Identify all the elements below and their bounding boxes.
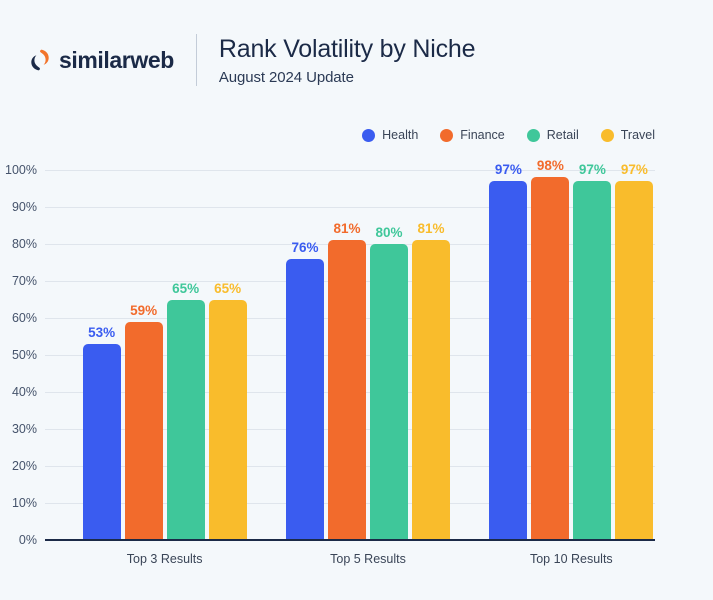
bar-rect bbox=[615, 181, 653, 540]
brand-logo: similarweb bbox=[28, 47, 196, 74]
brand-logo-text: similarweb bbox=[59, 47, 174, 74]
bar-rect bbox=[209, 300, 247, 541]
bar-travel-1[interactable]: 81% bbox=[412, 170, 450, 540]
bar-rect bbox=[489, 181, 527, 540]
bar-value-label: 65% bbox=[214, 281, 241, 296]
bar-value-label: 53% bbox=[88, 325, 115, 340]
title-block: Rank Volatility by Niche August 2024 Upd… bbox=[219, 34, 475, 86]
bar-retail-1[interactable]: 80% bbox=[370, 170, 408, 540]
page-subtitle: August 2024 Update bbox=[219, 69, 475, 86]
x-axis-tick-label: Top 10 Results bbox=[530, 552, 613, 566]
bar-value-label: 65% bbox=[172, 281, 199, 296]
y-axis-tick-label: 10% bbox=[12, 496, 37, 510]
bar-retail-0[interactable]: 65% bbox=[167, 170, 205, 540]
bar-rect bbox=[370, 244, 408, 540]
bar-group: 97%98%97%97% bbox=[489, 170, 653, 540]
y-axis-tick-label: 50% bbox=[12, 348, 37, 362]
bar-value-label: 80% bbox=[375, 225, 402, 240]
chart-legend: HealthFinanceRetailTravel bbox=[362, 128, 655, 142]
bar-rect bbox=[573, 181, 611, 540]
bar-finance-2[interactable]: 98% bbox=[531, 170, 569, 540]
bar-rect bbox=[412, 240, 450, 540]
legend-label: Retail bbox=[547, 128, 579, 142]
y-axis-tick-label: 80% bbox=[12, 237, 37, 251]
legend-swatch-icon bbox=[601, 129, 614, 142]
page-title: Rank Volatility by Niche bbox=[219, 34, 475, 64]
y-axis-tick-label: 0% bbox=[19, 533, 37, 547]
bar-value-label: 97% bbox=[579, 162, 606, 177]
bar-value-label: 97% bbox=[495, 162, 522, 177]
bar-value-label: 59% bbox=[130, 303, 157, 318]
bar-value-label: 81% bbox=[417, 221, 444, 236]
y-axis-tick-label: 40% bbox=[12, 385, 37, 399]
y-axis-tick-label: 70% bbox=[12, 274, 37, 288]
legend-label: Travel bbox=[621, 128, 655, 142]
chart-header: similarweb Rank Volatility by Niche Augu… bbox=[28, 30, 475, 90]
bar-rect bbox=[167, 300, 205, 541]
bar-rect bbox=[286, 259, 324, 540]
bar-rect bbox=[531, 177, 569, 540]
y-axis-tick-label: 30% bbox=[12, 422, 37, 436]
bar-rect bbox=[83, 344, 121, 540]
bar-retail-2[interactable]: 97% bbox=[573, 170, 611, 540]
x-axis-tick-label: Top 5 Results bbox=[330, 552, 406, 566]
bar-travel-0[interactable]: 65% bbox=[209, 170, 247, 540]
x-axis-line bbox=[45, 539, 655, 542]
y-axis-tick-label: 100% bbox=[5, 163, 37, 177]
bar-value-label: 81% bbox=[333, 221, 360, 236]
legend-label: Health bbox=[382, 128, 418, 142]
y-axis-tick-label: 90% bbox=[12, 200, 37, 214]
legend-item-health[interactable]: Health bbox=[362, 128, 418, 142]
bar-health-2[interactable]: 97% bbox=[489, 170, 527, 540]
y-axis-tick-label: 20% bbox=[12, 459, 37, 473]
bar-finance-1[interactable]: 81% bbox=[328, 170, 366, 540]
similarweb-logo-icon bbox=[28, 48, 52, 72]
header-divider bbox=[196, 34, 197, 86]
bar-rect bbox=[125, 322, 163, 540]
bar-rect bbox=[328, 240, 366, 540]
y-axis-tick-label: 60% bbox=[12, 311, 37, 325]
legend-item-travel[interactable]: Travel bbox=[601, 128, 655, 142]
legend-swatch-icon bbox=[440, 129, 453, 142]
x-axis-labels: Top 3 ResultsTop 5 ResultsTop 10 Results bbox=[45, 552, 655, 576]
legend-label: Finance bbox=[460, 128, 504, 142]
bar-group: 76%81%80%81% bbox=[286, 170, 450, 540]
bar-value-label: 98% bbox=[537, 158, 564, 173]
bar-travel-2[interactable]: 97% bbox=[615, 170, 653, 540]
legend-item-retail[interactable]: Retail bbox=[527, 128, 579, 142]
bar-value-label: 97% bbox=[621, 162, 648, 177]
legend-swatch-icon bbox=[527, 129, 540, 142]
chart-plot-area: 0%10%20%30%40%50%60%70%80%90%100% 53%59%… bbox=[45, 170, 655, 540]
bar-health-1[interactable]: 76% bbox=[286, 170, 324, 540]
bar-finance-0[interactable]: 59% bbox=[125, 170, 163, 540]
bar-group: 53%59%65%65% bbox=[83, 170, 247, 540]
bar-value-label: 76% bbox=[291, 240, 318, 255]
legend-item-finance[interactable]: Finance bbox=[440, 128, 504, 142]
x-axis-tick-label: Top 3 Results bbox=[127, 552, 203, 566]
bar-health-0[interactable]: 53% bbox=[83, 170, 121, 540]
bars-layer: 53%59%65%65%76%81%80%81%97%98%97%97% bbox=[45, 170, 655, 540]
legend-swatch-icon bbox=[362, 129, 375, 142]
